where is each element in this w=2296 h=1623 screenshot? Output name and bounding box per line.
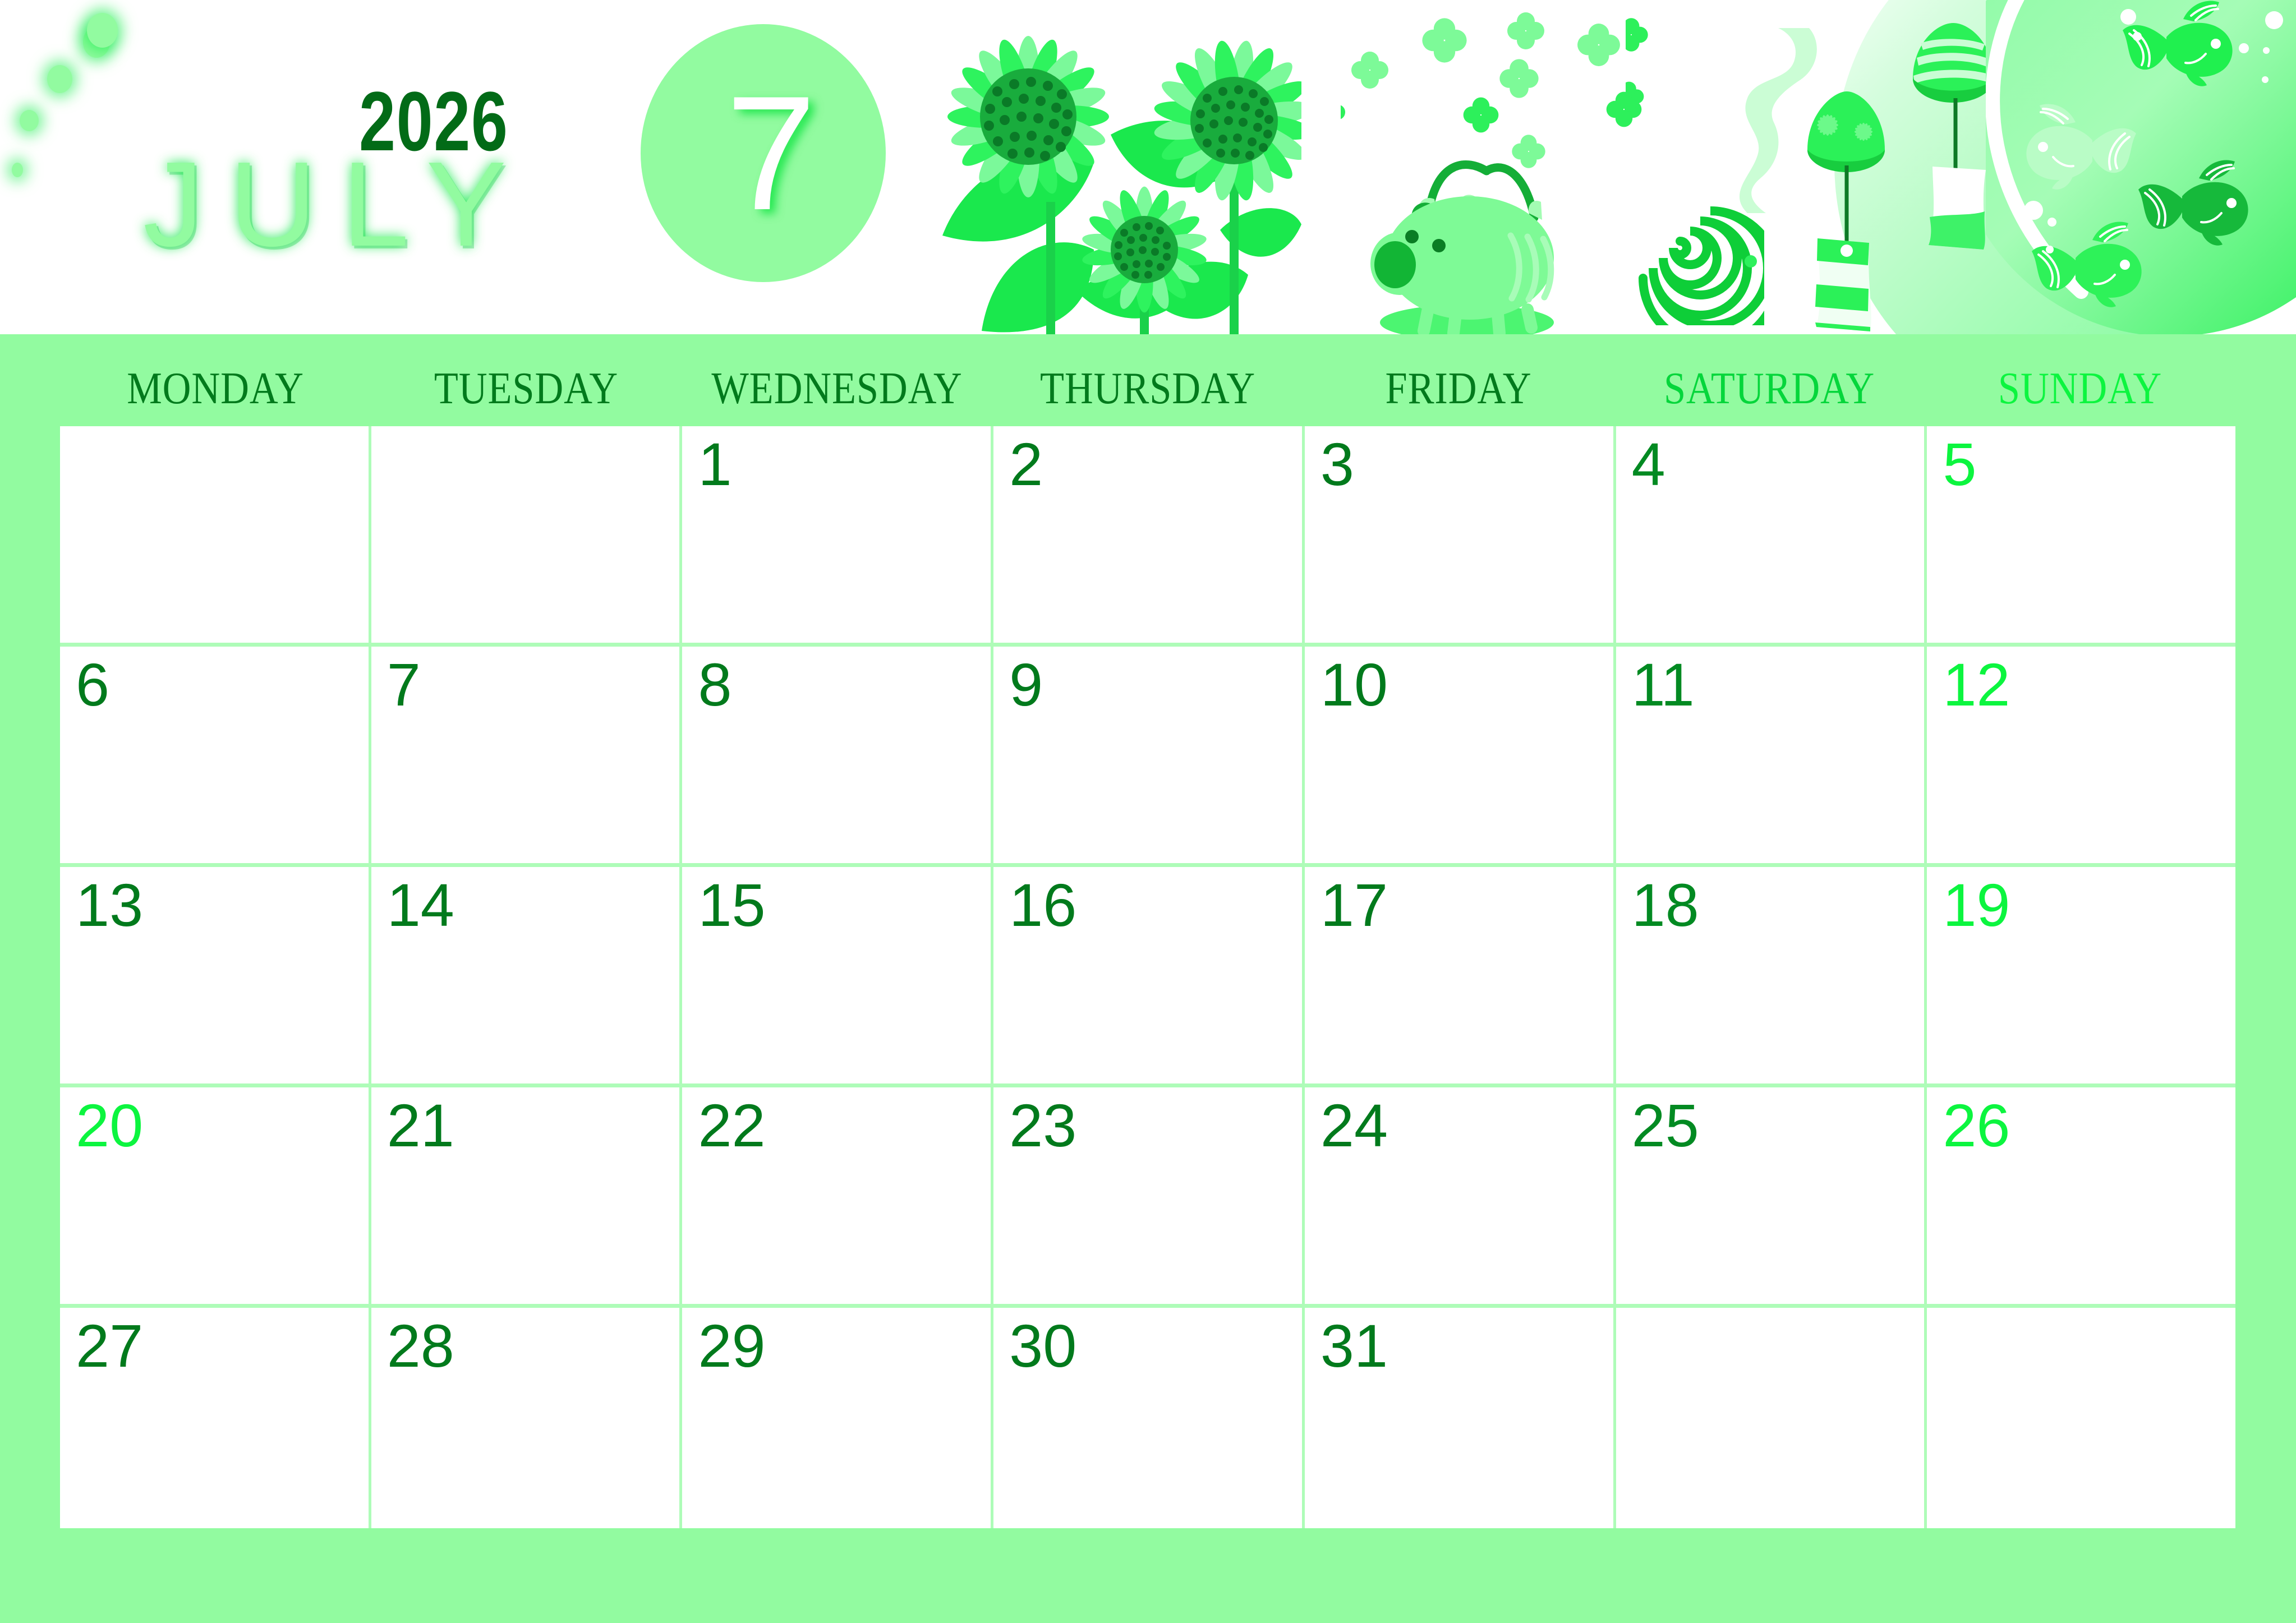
day-number: 17 <box>1320 870 1388 940</box>
day-cell[interactable]: 31 <box>1305 1308 1616 1528</box>
day-cell[interactable]: 10 <box>1305 647 1616 863</box>
day-cell[interactable]: 17 <box>1305 867 1616 1083</box>
day-cell[interactable]: 21 <box>371 1087 683 1304</box>
day-number: 25 <box>1632 1091 1699 1160</box>
day-number: 13 <box>76 870 143 940</box>
day-number: 2 <box>1009 430 1043 499</box>
calendar-weeks: 1 2 3 4 5 6 7 8 9 10 11 12 13 14 <box>60 422 2235 1528</box>
day-number: 30 <box>1009 1311 1076 1381</box>
calendar-week-row: 1 2 3 4 5 <box>60 426 2235 647</box>
day-cell[interactable]: 18 <box>1616 867 1927 1083</box>
day-number: 16 <box>1009 870 1076 940</box>
day-number: 19 <box>1943 870 2010 940</box>
day-cell[interactable]: 11 <box>1616 647 1927 863</box>
day-number: 28 <box>387 1311 454 1381</box>
day-number: 15 <box>698 870 765 940</box>
day-number: 26 <box>1943 1091 2010 1160</box>
sunflower-illustration <box>909 0 1301 334</box>
day-cell[interactable]: 2 <box>993 426 1305 643</box>
day-cell[interactable]: 15 <box>682 867 993 1083</box>
katori-buta-pig-illustration <box>1349 95 1579 334</box>
day-number: 10 <box>1320 650 1388 720</box>
weekday-header-sunday: SUNDAY <box>1943 363 2217 422</box>
weekday-header-monday: MONDAY <box>79 363 352 422</box>
day-number: 18 <box>1632 870 1699 940</box>
day-cell[interactable]: 14 <box>371 867 683 1083</box>
day-number: 1 <box>698 430 731 499</box>
bubble-decoration <box>87 13 118 48</box>
day-number: 6 <box>76 650 109 720</box>
weekday-header-friday: FRIDAY <box>1322 363 1595 422</box>
calendar-page: 2026 JULY 7 <box>0 0 2296 1623</box>
day-cell[interactable]: 20 <box>60 1087 371 1304</box>
day-number: 24 <box>1320 1091 1388 1160</box>
day-cell[interactable]: 12 <box>1927 647 2235 863</box>
day-cell[interactable] <box>1616 1308 1927 1528</box>
calendar-week-row: 20 21 22 23 24 25 26 <box>60 1087 2235 1308</box>
day-cell[interactable]: 23 <box>993 1087 1305 1304</box>
day-cell[interactable]: 1 <box>682 426 993 643</box>
calendar-week-row: 27 28 29 30 31 <box>60 1308 2235 1528</box>
month-number-badge: 7 <box>641 24 886 282</box>
bubble-decoration <box>47 65 72 93</box>
day-cell[interactable]: 27 <box>60 1308 371 1528</box>
day-cell[interactable]: 4 <box>1616 426 1927 643</box>
day-cell[interactable]: 8 <box>682 647 993 863</box>
day-cell[interactable] <box>60 426 371 643</box>
day-number: 23 <box>1009 1091 1076 1160</box>
day-cell[interactable]: 24 <box>1305 1087 1616 1304</box>
day-number: 5 <box>1943 430 1976 499</box>
weekday-header-thursday: THURSDAY <box>1011 363 1285 422</box>
calendar-body: MONDAY TUESDAY WEDNESDAY THURSDAY FRIDAY… <box>0 334 2296 1623</box>
day-number: 29 <box>698 1311 765 1381</box>
calendar-week-row: 13 14 15 16 17 18 19 <box>60 867 2235 1087</box>
day-cell[interactable]: 7 <box>371 647 683 863</box>
day-cell[interactable]: 25 <box>1616 1087 1927 1304</box>
day-cell[interactable]: 28 <box>371 1308 683 1528</box>
month-number-label: 7 <box>641 24 886 282</box>
day-number: 20 <box>76 1091 143 1160</box>
day-cell[interactable]: 9 <box>993 647 1305 863</box>
wind-chime-illustration <box>1795 87 1896 334</box>
day-number: 22 <box>698 1091 765 1160</box>
weekday-header-tuesday: TUESDAY <box>389 363 663 422</box>
day-number: 27 <box>76 1311 143 1381</box>
day-cell[interactable]: 29 <box>682 1308 993 1528</box>
bubble-decoration <box>20 110 39 131</box>
weekday-header-wednesday: WEDNESDAY <box>700 363 974 422</box>
calendar-banner: 2026 JULY 7 <box>0 0 2296 334</box>
clover-decoration <box>1626 11 1699 135</box>
goldfish-bowl-illustration <box>1986 0 2296 334</box>
day-number: 9 <box>1009 650 1043 720</box>
calendar-week-row: 6 7 8 9 10 11 12 <box>60 647 2235 867</box>
day-cell[interactable] <box>1927 1308 2235 1528</box>
day-number: 7 <box>387 650 421 720</box>
day-cell[interactable]: 30 <box>993 1308 1305 1528</box>
day-cell[interactable]: 19 <box>1927 867 2235 1083</box>
day-number: 21 <box>387 1091 454 1160</box>
day-number: 14 <box>387 870 454 940</box>
day-number: 3 <box>1320 430 1354 499</box>
day-cell[interactable]: 13 <box>60 867 371 1083</box>
day-cell[interactable]: 16 <box>993 867 1305 1083</box>
day-cell[interactable]: 6 <box>60 647 371 863</box>
calendar-grid: MONDAY TUESDAY WEDNESDAY THURSDAY FRIDAY… <box>60 334 2235 1524</box>
month-name-label: JULY <box>143 135 532 274</box>
day-number: 8 <box>698 650 731 720</box>
day-number: 12 <box>1943 650 2010 720</box>
day-number: 31 <box>1320 1311 1388 1381</box>
weekday-header-saturday: SATURDAY <box>1632 363 1906 422</box>
weekday-header-row: MONDAY TUESDAY WEDNESDAY THURSDAY FRIDAY… <box>60 334 2235 422</box>
bubble-decoration <box>12 163 23 177</box>
day-number: 4 <box>1632 430 1665 499</box>
day-cell[interactable]: 26 <box>1927 1087 2235 1304</box>
day-cell[interactable]: 5 <box>1927 426 2235 643</box>
day-cell[interactable]: 3 <box>1305 426 1616 643</box>
day-number: 11 <box>1632 650 1695 720</box>
day-cell[interactable]: 22 <box>682 1087 993 1304</box>
day-cell[interactable] <box>371 426 683 643</box>
